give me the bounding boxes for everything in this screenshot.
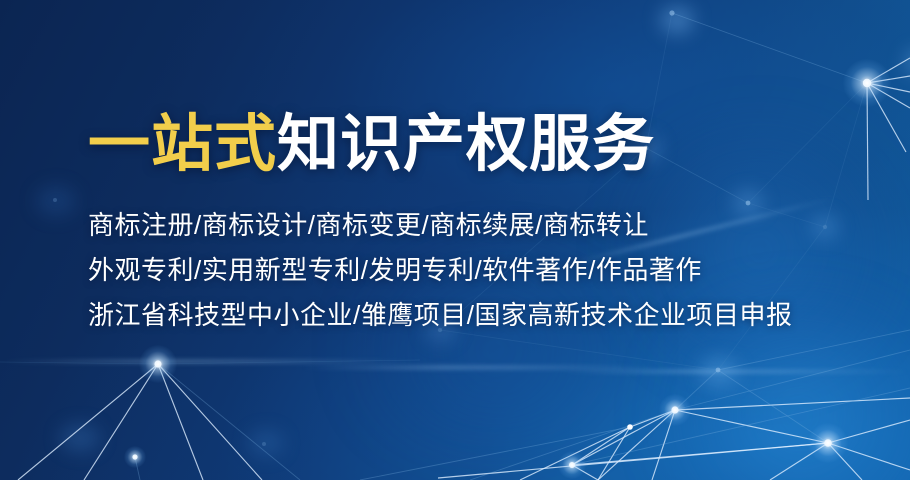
promo-banner: 一站式知识产权服务 商标注册/商标设计/商标变更/商标续展/商标转让 外观专利/… (0, 0, 910, 480)
light-streak-lower (560, 370, 910, 373)
light-streak-upper (0, 360, 420, 363)
headline-highlight: 一站式 (88, 110, 277, 179)
service-line-patent: 外观专利/实用新型专利/发明专利/软件著作/作品著作 (88, 257, 792, 283)
node-glow-left-fan (139, 345, 177, 383)
node-glow-bottom-left-small (124, 446, 146, 468)
network-lines-left-fan (0, 360, 420, 480)
node-glow-bottom-mid (659, 394, 691, 426)
soft-node-glow-e (905, 50, 910, 74)
service-list: 商标注册/商标设计/商标变更/商标续展/商标转让 外观专利/实用新型专利/发明专… (88, 212, 792, 328)
network-lines-bottom-right (360, 330, 910, 480)
soft-node-glow-f (700, 358, 738, 386)
soft-node-glow-g (60, 424, 100, 452)
soft-node-glow-h (248, 430, 284, 456)
banner-text-block: 一站式知识产权服务 商标注册/商标设计/商标变更/商标续展/商标转让 外观专利/… (88, 112, 792, 328)
soft-node-glow-a (660, 6, 694, 34)
headline-rest: 知识产权服务 (277, 110, 655, 179)
soft-node-glow-i (36, 186, 76, 216)
service-line-enterprise: 浙江省科技型中小企业/雏鹰项目/国家高新技术企业项目申报 (88, 302, 792, 328)
node-glow-lower-center (558, 451, 586, 479)
service-line-trademark: 商标注册/商标设计/商标变更/商标续展/商标转让 (88, 212, 792, 238)
soft-node-glow-d (812, 215, 838, 239)
node-glow-top-right (843, 59, 891, 107)
page-title: 一站式知识产权服务 (88, 112, 792, 178)
light-streak-mid (300, 366, 660, 369)
node-glow-bottom-right (808, 423, 848, 463)
